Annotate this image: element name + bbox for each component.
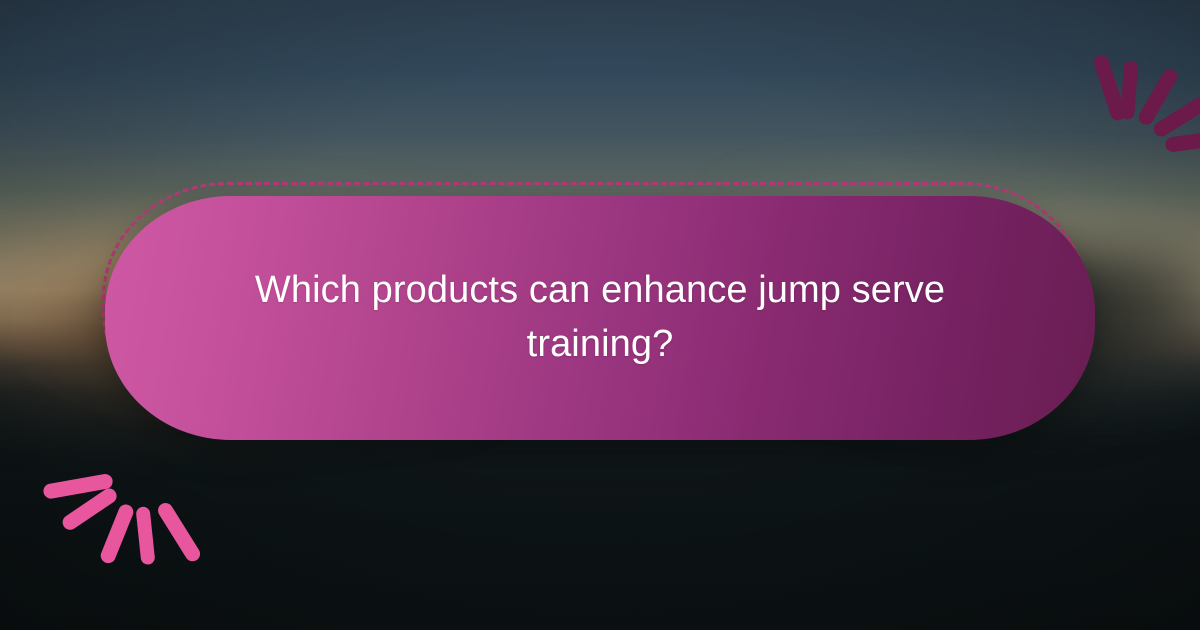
question-card: Which products can enhance jump serve tr…: [105, 182, 1095, 440]
question-text: Which products can enhance jump serve tr…: [210, 264, 990, 372]
social-card-canvas: Which products can enhance jump serve tr…: [0, 0, 1200, 630]
card-body: Which products can enhance jump serve tr…: [105, 196, 1095, 440]
